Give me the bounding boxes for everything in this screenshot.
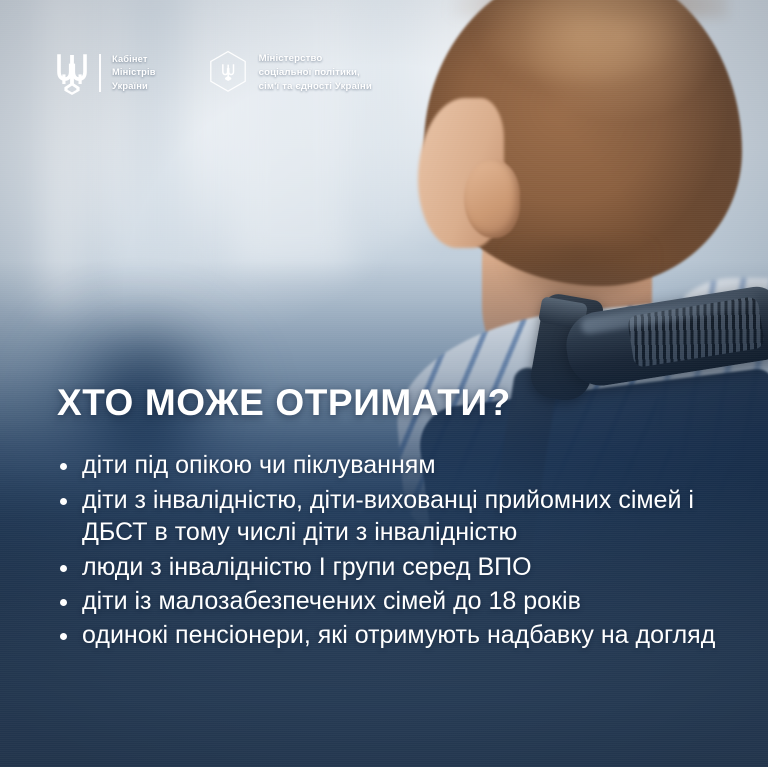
ukraine-trident-icon [55,51,89,95]
page-title: ХТО МОЖЕ ОТРИМАТИ? [57,382,728,423]
list-item: діти із малозабезпечених сімей до 18 рок… [57,585,728,617]
logo-cabinet-of-ministers: Кабінет Міністрів України [55,51,156,95]
poster: Кабінет Міністрів України Міністерство с… [0,0,768,767]
hexagon-trident-icon [208,50,248,96]
logo-divider [99,54,101,92]
logo-ministry-label: Міністерство соціальної політики, сім'ї … [259,52,372,93]
logo-ministry-of-social-policy: Міністерство соціальної політики, сім'ї … [208,50,372,96]
list-item: діти під опікою чи піклуванням [57,449,728,481]
eligibility-list: діти під опікою чи піклуванням діти з ін… [57,449,728,651]
list-item: одинокі пенсіонери, які отримують надбав… [57,619,728,651]
list-item: діти з інвалідністю, діти-вихованці прий… [57,484,728,549]
logo-bar: Кабінет Міністрів України Міністерство с… [55,50,372,96]
list-item: люди з інвалідністю I групи серед ВПО [57,551,728,583]
content-block: ХТО МОЖЕ ОТРИМАТИ? діти під опікою чи пі… [0,382,768,654]
logo-cabinet-label: Кабінет Міністрів України [112,53,156,93]
